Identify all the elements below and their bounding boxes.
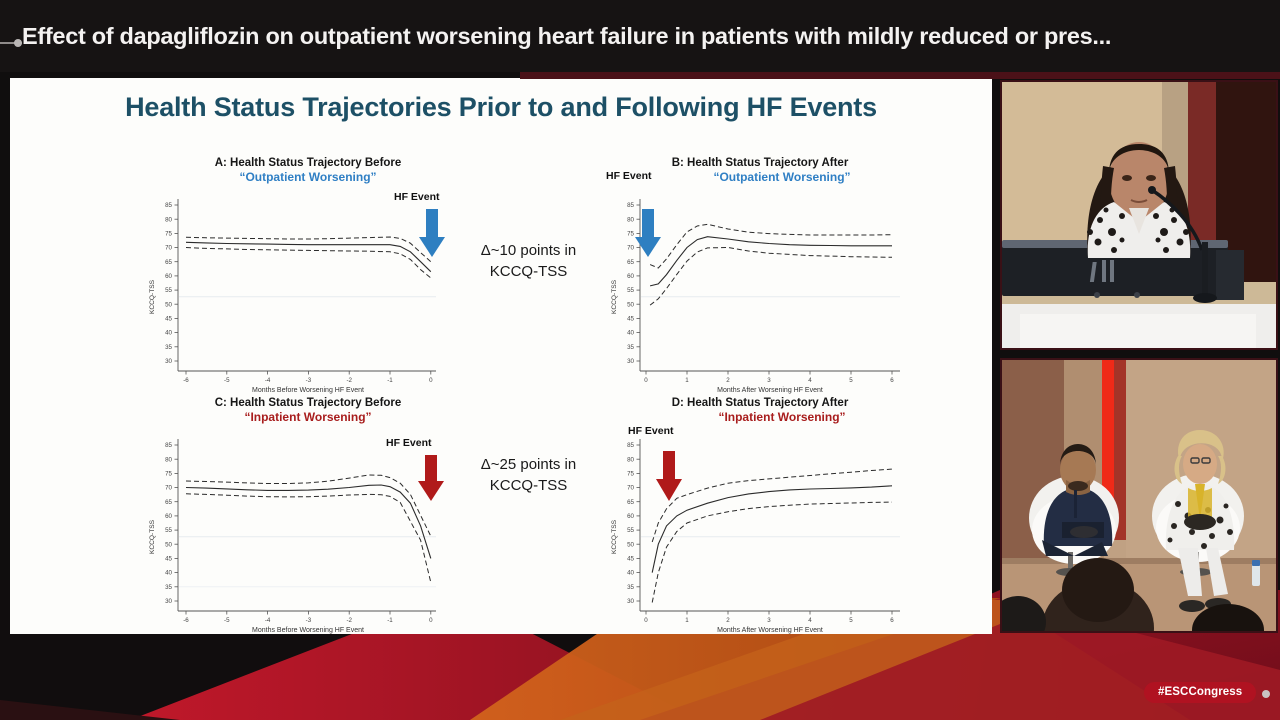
- svg-text:1: 1: [685, 377, 689, 384]
- svg-text:0: 0: [644, 377, 648, 384]
- panel-b-svg: 8580 7570 6560 5550 4540 3530: [600, 187, 920, 402]
- svg-text:3: 3: [767, 617, 771, 624]
- svg-text:-5: -5: [224, 377, 230, 384]
- panel-b-heading: B: Health Status Trajectory After: [600, 156, 920, 170]
- hf-event-arrow-red: [418, 455, 444, 501]
- svg-text:55: 55: [627, 287, 634, 294]
- svg-text:6: 6: [890, 617, 894, 624]
- annotation-delta-25-line1: Δ~25 points in: [456, 454, 601, 475]
- svg-text:65: 65: [165, 259, 172, 266]
- svg-text:4: 4: [808, 617, 812, 624]
- panel-c-subtitle: “Inpatient Worsening”: [138, 410, 478, 425]
- svg-text:KCCQ-TSS: KCCQ-TSS: [149, 279, 156, 314]
- svg-text:-2: -2: [346, 377, 352, 384]
- svg-text:55: 55: [165, 527, 172, 534]
- svg-text:70: 70: [627, 245, 634, 252]
- svg-text:2: 2: [726, 377, 730, 384]
- annotation-delta-10-line2: KCCQ-TSS: [456, 261, 601, 282]
- svg-text:0: 0: [429, 377, 433, 384]
- panel-d-hf-event-label: HF Event: [628, 425, 674, 437]
- svg-text:80: 80: [627, 216, 634, 223]
- presentation-slide: Health Status Trajectories Prior to and …: [10, 78, 992, 634]
- svg-text:Months After Worsening HF Even: Months After Worsening HF Event: [717, 387, 823, 394]
- svg-text:40: 40: [627, 570, 634, 577]
- svg-text:45: 45: [627, 316, 634, 323]
- svg-text:60: 60: [627, 273, 634, 280]
- annotation-delta-10: Δ~10 points in KCCQ-TSS: [456, 240, 601, 282]
- panel-a-plot: HF Event 8580 7570 6560 5550 4540 3530: [138, 187, 478, 402]
- svg-text:60: 60: [627, 513, 634, 520]
- svg-text:80: 80: [627, 456, 634, 463]
- svg-text:70: 70: [165, 485, 172, 492]
- svg-text:Months Before Worsening HF Eve: Months Before Worsening HF Event: [252, 627, 364, 634]
- svg-text:-1: -1: [387, 377, 393, 384]
- panel-b-hf-event-label: HF Event: [606, 170, 652, 182]
- svg-text:-6: -6: [183, 377, 189, 384]
- slider-knob[interactable]: [14, 39, 22, 47]
- chart-panel-c: C: Health Status Trajectory Before “Inpa…: [138, 396, 478, 634]
- broadcast-player: Effect of dapagliflozin on outpatient wo…: [0, 0, 1280, 720]
- panel-c-heading: C: Health Status Trajectory Before: [138, 396, 478, 410]
- page-title: Effect of dapagliflozin on outpatient wo…: [22, 22, 1274, 50]
- svg-text:1: 1: [685, 617, 689, 624]
- svg-text:85: 85: [627, 442, 634, 449]
- svg-text:40: 40: [165, 570, 172, 577]
- player-header: Effect of dapagliflozin on outpatient wo…: [0, 0, 1280, 72]
- svg-text:50: 50: [627, 301, 634, 308]
- panel-a-subtitle: “Outpatient Worsening”: [138, 170, 478, 185]
- hf-event-arrow-blue: [419, 209, 445, 257]
- stage-video-tile[interactable]: [1000, 358, 1278, 633]
- chart-panel-d: D: Health Status Trajectory After “Inpat…: [600, 396, 920, 634]
- badge-dot-icon: [1262, 690, 1270, 698]
- panel-c-svg: 8580 7570 6560 5550 4540 3530: [138, 427, 478, 634]
- svg-text:KCCQ-TSS: KCCQ-TSS: [611, 279, 618, 314]
- svg-text:35: 35: [165, 584, 172, 591]
- svg-text:35: 35: [627, 584, 634, 591]
- svg-text:40: 40: [165, 330, 172, 337]
- panel-d-plot: HF Event 8580 7570 6560 5550 4540 3530: [600, 427, 920, 634]
- svg-text:30: 30: [165, 598, 172, 605]
- svg-text:40: 40: [627, 330, 634, 337]
- speaker-video-tile[interactable]: [1000, 80, 1278, 350]
- svg-text:0: 0: [644, 617, 648, 624]
- hashtag-badge: #ESCCongress: [1144, 682, 1256, 703]
- annotation-delta-25-line2: KCCQ-TSS: [456, 475, 601, 496]
- svg-text:65: 65: [627, 259, 634, 266]
- svg-text:-4: -4: [265, 377, 271, 384]
- svg-text:0: 0: [429, 617, 433, 624]
- svg-text:80: 80: [165, 216, 172, 223]
- svg-text:4: 4: [808, 377, 812, 384]
- panel-d-heading: D: Health Status Trajectory After: [600, 396, 920, 410]
- svg-text:75: 75: [627, 231, 634, 238]
- svg-text:80: 80: [165, 456, 172, 463]
- svg-text:55: 55: [165, 287, 172, 294]
- annotation-delta-25: Δ~25 points in KCCQ-TSS: [456, 454, 601, 496]
- svg-text:-2: -2: [346, 617, 352, 624]
- svg-text:5: 5: [849, 377, 853, 384]
- svg-text:75: 75: [627, 471, 634, 478]
- svg-text:45: 45: [165, 316, 172, 323]
- svg-text:30: 30: [627, 358, 634, 365]
- svg-text:60: 60: [165, 513, 172, 520]
- svg-text:50: 50: [627, 541, 634, 548]
- svg-text:35: 35: [627, 344, 634, 351]
- svg-text:Months After Worsening HF Even: Months After Worsening HF Event: [717, 627, 823, 634]
- svg-text:-3: -3: [306, 377, 312, 384]
- svg-text:5: 5: [849, 617, 853, 624]
- svg-text:30: 30: [165, 358, 172, 365]
- panel-d-subtitle: “Inpatient Worsening”: [600, 410, 920, 425]
- svg-text:30: 30: [627, 598, 634, 605]
- svg-text:65: 65: [165, 499, 172, 506]
- svg-text:-6: -6: [183, 617, 189, 624]
- slide-title: Health Status Trajectories Prior to and …: [10, 92, 992, 123]
- svg-text:60: 60: [165, 273, 172, 280]
- svg-text:75: 75: [165, 231, 172, 238]
- svg-text:Months Before Worsening HF Eve: Months Before Worsening HF Event: [252, 387, 364, 394]
- panel-a-heading: A: Health Status Trajectory Before: [138, 156, 478, 170]
- svg-text:65: 65: [627, 499, 634, 506]
- svg-text:45: 45: [165, 556, 172, 563]
- hf-event-arrow-red: [656, 451, 682, 501]
- svg-text:-1: -1: [387, 617, 393, 624]
- svg-text:50: 50: [165, 301, 172, 308]
- panel-d-svg: 8580 7570 6560 5550 4540 3530: [600, 427, 920, 634]
- svg-text:75: 75: [165, 471, 172, 478]
- svg-text:85: 85: [165, 202, 172, 209]
- panel-a-svg: 8580 7570 6560 5550 4540 3530: [138, 187, 478, 402]
- svg-text:KCCQ-TSS: KCCQ-TSS: [149, 519, 156, 554]
- svg-text:85: 85: [165, 442, 172, 449]
- svg-text:6: 6: [890, 377, 894, 384]
- svg-text:2: 2: [726, 617, 730, 624]
- svg-text:-5: -5: [224, 617, 230, 624]
- svg-text:-4: -4: [265, 617, 271, 624]
- panel-a-hf-event-label: HF Event: [394, 191, 440, 203]
- svg-text:70: 70: [627, 485, 634, 492]
- svg-text:-3: -3: [306, 617, 312, 624]
- chart-panel-b: B: Health Status Trajectory After “Outpa…: [600, 156, 920, 402]
- chart-panel-a: A: Health Status Trajectory Before “Outp…: [138, 156, 478, 402]
- svg-text:50: 50: [165, 541, 172, 548]
- panel-c-plot: HF Event 8580 7570 6560 5550 4540 3530: [138, 427, 478, 634]
- svg-text:55: 55: [627, 527, 634, 534]
- svg-text:70: 70: [165, 245, 172, 252]
- svg-text:85: 85: [627, 202, 634, 209]
- svg-text:KCCQ-TSS: KCCQ-TSS: [611, 519, 618, 554]
- svg-text:35: 35: [165, 344, 172, 351]
- panel-c-hf-event-label: HF Event: [386, 437, 432, 449]
- header-accent-band: [520, 72, 1280, 79]
- panel-b-plot: HF Event 8580 7570 6560 5550 4540 3530: [600, 187, 920, 402]
- annotation-delta-10-line1: Δ~10 points in: [456, 240, 601, 261]
- svg-text:45: 45: [627, 556, 634, 563]
- svg-text:3: 3: [767, 377, 771, 384]
